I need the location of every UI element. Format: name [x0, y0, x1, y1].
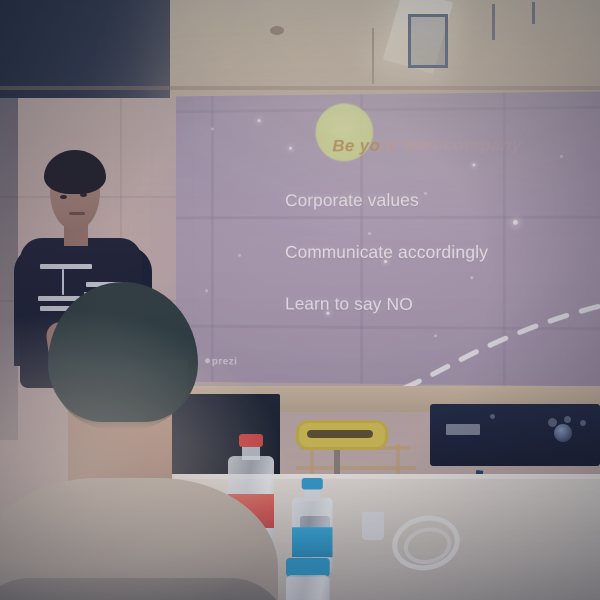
slide-bullet: Corporate values — [285, 189, 587, 211]
bottle-cap — [302, 478, 323, 489]
ceiling-shadow — [0, 0, 170, 98]
av-console[interactable] — [430, 404, 600, 466]
ceiling-pole — [532, 2, 535, 24]
ceiling-pole — [372, 28, 374, 84]
slide-bullet: Learn to say NO — [285, 294, 587, 317]
slide-star — [211, 128, 214, 131]
slide-bullet: Communicate accordingly — [285, 242, 587, 263]
presenter-mouth — [69, 212, 85, 215]
slide-star — [472, 163, 475, 166]
slide-title-part-strong: Be yo — [332, 136, 380, 155]
placard-text-bar — [307, 430, 373, 438]
yellow-placard[interactable] — [296, 420, 388, 450]
bottle-body — [286, 575, 330, 600]
slide-star — [238, 254, 241, 257]
audience-hair — [48, 282, 198, 422]
ceiling — [0, 0, 600, 98]
projector-lens-icon — [554, 424, 572, 442]
ceiling-vault — [135, 0, 600, 98]
console-knob[interactable] — [564, 416, 571, 423]
presenter-eye — [60, 195, 67, 199]
ceiling-pole — [492, 4, 495, 40]
slide-title: Be your own company — [332, 135, 522, 156]
slide-star — [258, 119, 261, 122]
lamp-frame — [408, 14, 448, 68]
audience-shirt-shadow — [0, 578, 290, 600]
slide-star — [560, 155, 563, 158]
bottle-label — [292, 527, 332, 557]
console-label — [446, 424, 480, 435]
console-knob[interactable] — [490, 414, 495, 419]
slide-bullet-list: Corporate values Communicate accordingly… — [285, 189, 587, 347]
slide-title-part-fading: ur own — [380, 136, 438, 155]
slide-star — [289, 147, 292, 150]
ceiling-beam — [0, 86, 600, 90]
ceiling-mark — [270, 26, 284, 35]
tshirt-print-line — [40, 264, 92, 269]
cup — [362, 512, 384, 540]
presenter-hair — [44, 150, 106, 194]
slide-title-part-faint: company — [439, 135, 523, 155]
photo-scene: Be your own company Corporate values Com… — [0, 0, 600, 600]
screen-seam — [176, 106, 600, 113]
console-knob[interactable] — [580, 420, 586, 426]
audience-figure — [0, 282, 260, 600]
